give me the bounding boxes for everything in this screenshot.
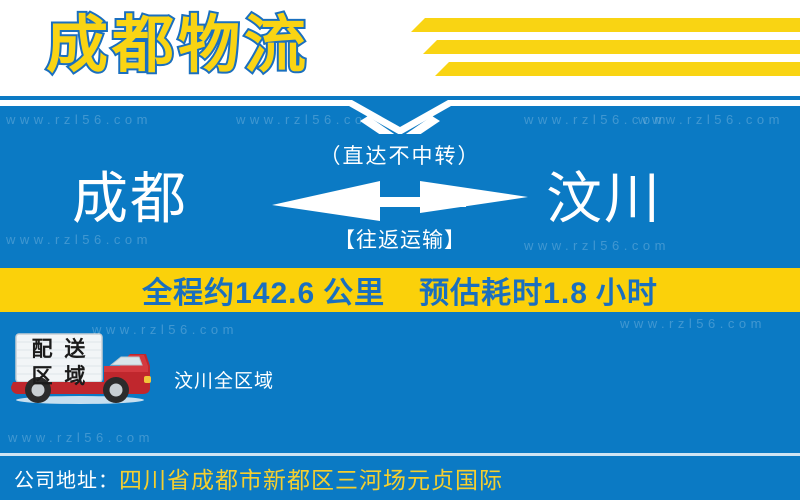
route-direct-note: （直达不中转） [250,140,550,170]
bidirectional-arrow-icon [270,175,530,223]
watermark-text: www.rzl56.com [620,316,766,331]
chevron-down-icon [0,94,800,134]
brand-logo-text: 成都物流 [46,5,310,87]
duration-unit: 小时 [596,268,658,312]
truck-box-label: 配 送 区 域 [22,336,98,390]
truck-box-line-1: 配 送 [22,336,98,363]
distance-value: 142.6 [235,277,315,311]
watermark-text: www.rzl56.com [6,232,152,247]
poster-header: 成都物流 [0,0,800,96]
poster-footer: 公司地址： 四川省成都市新都区三河场元贞国际 [0,456,800,500]
distance-label: 全程约 [142,268,235,312]
logistics-route-poster: 成都物流 成都 （直达不中转） 【往返运输】 汶川 全程约 142.6 公里 预… [0,0,800,500]
truck-box-line-2: 区 域 [22,363,98,390]
route-stats-bar: 全程约 142.6 公里 预估耗时 1.8 小时 [0,268,800,312]
watermark-text: www.rzl56.com [8,430,154,445]
route-destination-city: 汶川 [546,168,662,230]
duration-value: 1.8 [543,277,588,311]
company-address-label: 公司地址： [14,464,119,493]
route-roundtrip-note: 【往返运输】 [250,224,550,254]
distance-unit: 公里 [323,268,385,312]
duration-label: 预估耗时 [419,268,543,312]
route-origin-city: 成都 [72,168,188,230]
delivery-area-text: 汶川全区域 [174,366,274,393]
company-address-value: 四川省成都市新都区三河场元贞国际 [119,461,503,495]
